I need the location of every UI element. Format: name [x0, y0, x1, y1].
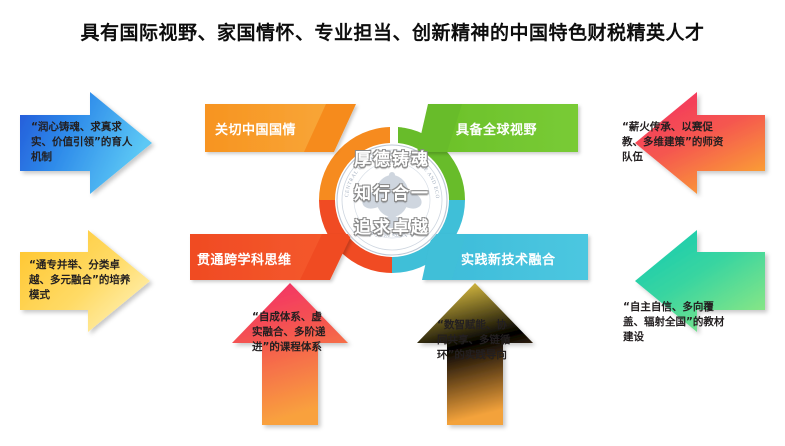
label-text-cn-context[interactable]: 关切中国国情 — [215, 119, 296, 138]
slide-canvas: 具有国际视野、家国情怀、专业担当、创新精神的中国特色财税精英人才 — [0, 0, 785, 446]
label-text-new-tech[interactable]: 实践新技术融合 — [461, 249, 556, 268]
arrow-text-top-left: “润心铸魂、求真求实、价值引领”的育人机制 — [31, 120, 137, 165]
label-text-interdisciplinary[interactable]: 贯通跨学科思维 — [197, 249, 292, 268]
arrow-text-bottom-left: “通专并举、分类卓越、多元融合”的培养模式 — [29, 258, 137, 303]
label-text-global-vision[interactable]: 具备全球视野 — [456, 119, 537, 138]
arrow-text-bottom-right: “自主自信、多向覆盖、辐射全国”的教材建设 — [623, 300, 733, 345]
arrow-text-top-right: “薪火传承、以赛促教、多维建策”的师资队伍 — [622, 120, 730, 165]
arrow-text-bottom-center-right: “数智赋能、协同共享、多链循环”的实践导向 — [437, 318, 517, 363]
center-line-3: 追求卓越 — [312, 215, 472, 241]
center-line-2: 知行合一 — [312, 181, 472, 207]
arrow-text-bottom-center-left: “自成体系、虚实融合、多阶递进”的课程体系 — [252, 310, 332, 355]
center-line-1: 厚德铸魂 — [312, 147, 472, 173]
